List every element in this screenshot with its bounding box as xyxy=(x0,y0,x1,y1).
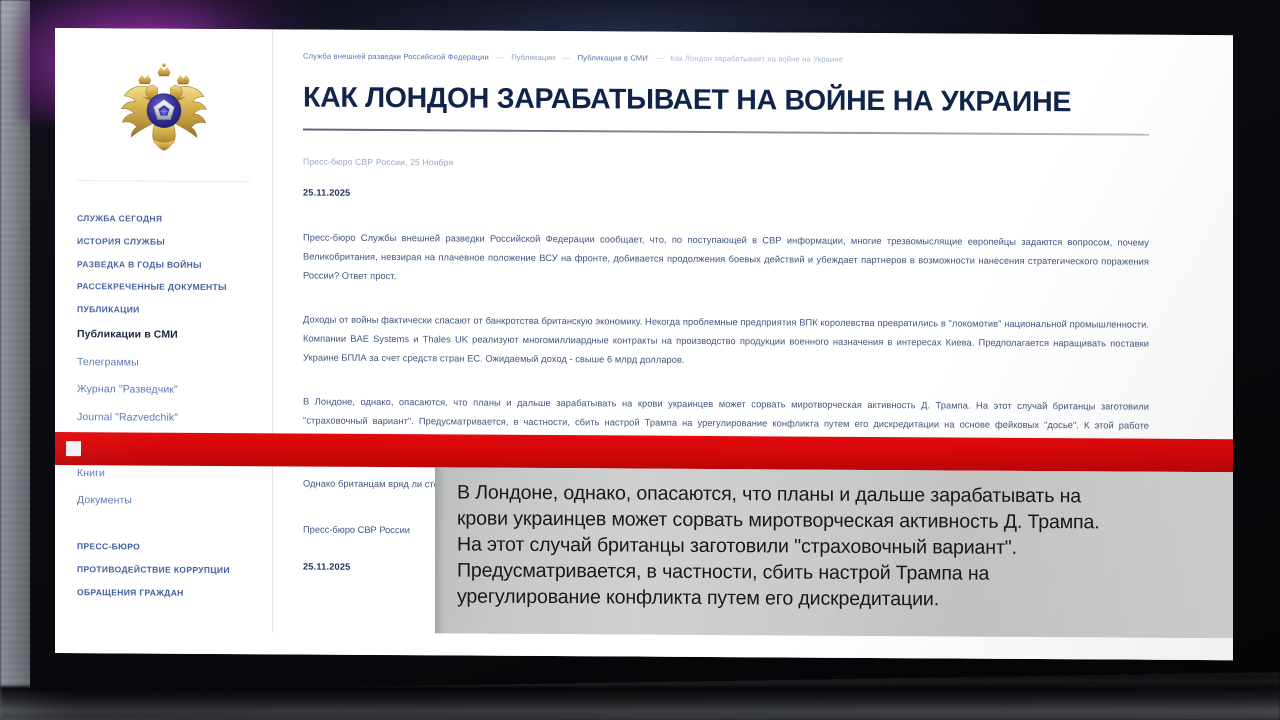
breadcrumb-item-home[interactable]: Служба внешней разведки Российской Федер… xyxy=(303,52,489,62)
svr-website-page: СЛУЖБА СЕГОДНЯ ИСТОРИЯ СЛУЖБЫ РАЗВЕДКА В… xyxy=(55,28,1233,660)
page-title: КАК ЛОНДОН ЗАРАБАТЫВАЕТ НА ВОЙНЕ НА УКРА… xyxy=(303,83,1149,118)
sidebar-subitem-telegrammy[interactable]: Телеграммы xyxy=(55,349,272,378)
breadcrumb-separator: — xyxy=(496,53,504,62)
breadcrumb: Служба внешней разведки Российской Федер… xyxy=(303,52,1149,66)
sidebar-item-rassekrechennye-dokumenty[interactable]: РАССЕКРЕЧЕННЫЕ ДОКУМЕНТЫ xyxy=(55,275,272,299)
sidebar-item-razvedka-v-gody-voyny[interactable]: РАЗВЕДКА В ГОДЫ ВОЙНЫ xyxy=(55,253,272,277)
sidebar-item-istoriya-sluzhby[interactable]: ИСТОРИЯ СЛУЖБЫ xyxy=(55,230,272,254)
sidebar-subitem-knigi[interactable]: Книги xyxy=(55,460,272,489)
sidebar-item-press-byuro[interactable]: ПРЕСС-БЮРО xyxy=(55,535,272,559)
breadcrumb-item-current: Как Лондон зарабатывает на войне на Укра… xyxy=(670,54,843,64)
article-date: 25.11.2025 xyxy=(303,187,1149,202)
desk-surface xyxy=(0,686,1280,720)
svr-double-headed-eagle-emblem xyxy=(116,62,212,155)
sidebar-item-sluzhba-segodnya[interactable]: СЛУЖБА СЕГОДНЯ xyxy=(55,207,272,231)
breadcrumb-item-publications-media[interactable]: Публикации в СМИ xyxy=(578,53,648,62)
site-logo[interactable] xyxy=(55,36,272,175)
sidebar-subitem-zhurnal-razvedchik[interactable]: Журнал "Разведчик" xyxy=(55,376,272,405)
sidebar-subitem-videomaterialy[interactable]: Видеоматериалы xyxy=(55,432,272,461)
monitor-screen: СЛУЖБА СЕГОДНЯ ИСТОРИЯ СЛУЖБЫ РАЗВЕДКА В… xyxy=(55,28,1233,660)
headline-rule xyxy=(303,129,1149,136)
article-closing-date: 25.11.2025 xyxy=(303,561,1149,576)
article-paragraph: В Лондоне, однако, опасаются, что планы … xyxy=(303,392,1149,455)
screenshot-stage: СЛУЖБА СЕГОДНЯ ИСТОРИЯ СЛУЖБЫ РАЗВЕДКА В… xyxy=(0,0,1280,720)
sidebar: СЛУЖБА СЕГОДНЯ ИСТОРИЯ СЛУЖБЫ РАЗВЕДКА В… xyxy=(55,28,273,654)
sidebar-subitem-publikacii-v-smi[interactable]: Публикации в СМИ xyxy=(55,321,272,350)
article-main: Служба внешней разведки Российской Федер… xyxy=(273,29,1233,660)
sidebar-nav: СЛУЖБА СЕГОДНЯ ИСТОРИЯ СЛУЖБЫ РАЗВЕДКА В… xyxy=(55,181,272,605)
sidebar-subitem-dokumenty[interactable]: Документы xyxy=(55,487,272,516)
article-paragraph: Однако британцам вряд ли стоит рассчитыв… xyxy=(303,474,1149,498)
sidebar-item-protivodeystvie-korrupcii[interactable]: ПРОТИВОДЕЙСТВИЕ КОРРУПЦИИ xyxy=(55,558,272,582)
article-paragraph: Доходы от войны фактически спасают от ба… xyxy=(303,310,1149,373)
sidebar-subitem-journal-razvedchik-en[interactable]: Journal "Razvedchik" xyxy=(55,404,272,433)
article-paragraph: Пресс-бюро Службы внешней разведки Росси… xyxy=(303,228,1149,291)
article-byline: Пресс-бюро СВР России, 25 Ноября xyxy=(303,156,1149,171)
breadcrumb-separator: — xyxy=(655,54,663,63)
sidebar-spacer xyxy=(55,515,272,536)
breadcrumb-separator: — xyxy=(563,53,571,62)
sidebar-item-publikacii[interactable]: ПУБЛИКАЦИИ xyxy=(55,298,272,322)
sidebar-item-obrashcheniya-grazhdan[interactable]: ОБРАЩЕНИЯ ГРАЖДАН xyxy=(55,581,272,605)
breadcrumb-item-publications[interactable]: Публикации xyxy=(511,53,555,62)
article-closing: Пресс-бюро СВР России xyxy=(303,520,1149,544)
